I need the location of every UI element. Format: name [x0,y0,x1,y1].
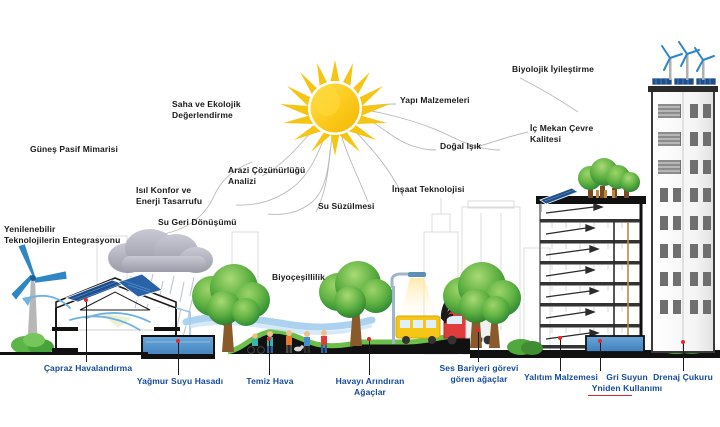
label-insaat-teknolojisi: İnşaat Teknolojisi [392,184,500,195]
label-su-suzulmesi: Su Süzülmesi [318,201,406,212]
marker-dot-havayi-arindiran-agaclar [367,337,371,341]
marker-dot-yalitim-malzemesi [558,336,562,340]
leader-line-temiz-hava [269,339,270,375]
label-drenaj-cukuru: Drenaj Çukuru [645,372,720,383]
label-gunes-pasif-mimarisi: Güneş Pasif Mimarisi [30,144,148,155]
infographic-canvas: Güneş Pasif Mimarisi Saha ve Ekolojik De… [0,0,720,427]
label-isil-konfor-ve-enerji-tasarrufu: Isıl Konfor ve Enerji Tasarrufu [136,185,236,207]
leader-line-yagmur-suyu-hasadi [178,341,179,375]
leader-line-gri-suyun-yeniden-kullanimi [600,341,601,371]
marker-dot-capraz-havalandirma [84,298,88,302]
label-havayi-arindiran-agaclar: Havayı Arındıran Ağaçlar [322,376,418,398]
leader-line-yalitim-malzemesi [560,338,561,371]
label-capraz-havalandirma: Çapraz Havalandırma [34,363,142,374]
cutaway-building [536,158,646,352]
label-dogal-isik: Doğal Işık [440,141,514,152]
label-biyolojik-iyilestirme: Biyolojik İyileştirme [512,64,630,75]
label-biyocesillilik: Biyoçeşillilik [272,272,356,283]
leader-line-drenaj-cukuru [683,342,684,371]
label-yenilenebilir-teknolojilerin-entegrasyonu: Yenilenebilir Teknolojilerin Entegrasyon… [4,224,156,246]
marker-dot-ses-bariyeri-goren-agaclar [476,328,480,332]
shrub-cutaway-base [507,339,543,355]
label-saha-ve-ekolojik-degerlendirme: Saha ve Ekolojik Değerlendirme [172,99,276,121]
label-arazi-cozunurlugu-analizi: Arazi Çözünürlüğü Analizi [228,165,332,187]
label-yapi-malzemeleri: Yapı Malzemeleri [400,95,504,106]
label-su-geri-donusumu: Su Geri Dönüşümü [158,217,268,228]
label-temiz-hava: Temiz Hava [237,376,303,387]
marker-dot-yagmur-suyu-hasadi [176,339,180,343]
leader-line-capraz-havalandirma [86,300,87,362]
marker-dot-gri-suyun-yeniden-kullanimi [598,339,602,343]
shrub-group-left [11,333,54,355]
marker-dot-drenaj-cukuru [681,340,685,344]
rooftop-solar-panels [652,78,716,85]
spellcheck-underline-yniden [588,394,632,396]
greywater-tank [586,336,644,352]
leader-line-ses-bariyeri-goren-agaclar [478,330,479,362]
rooftop-wind-turbines [662,42,714,80]
label-ic-mekan-cevre-kalitesi: İç Mekan Çevre Kalitesi [530,123,630,145]
roof-garden-trees [578,158,640,198]
sun-icon [280,60,390,156]
label-yagmur-suyu-hasadi: Yağmur Suyu Hasadı [126,376,234,387]
marker-dot-temiz-hava [267,337,271,341]
leader-line-havayi-arindiran-agaclar [369,339,370,375]
high-rise-tower [648,42,718,352]
